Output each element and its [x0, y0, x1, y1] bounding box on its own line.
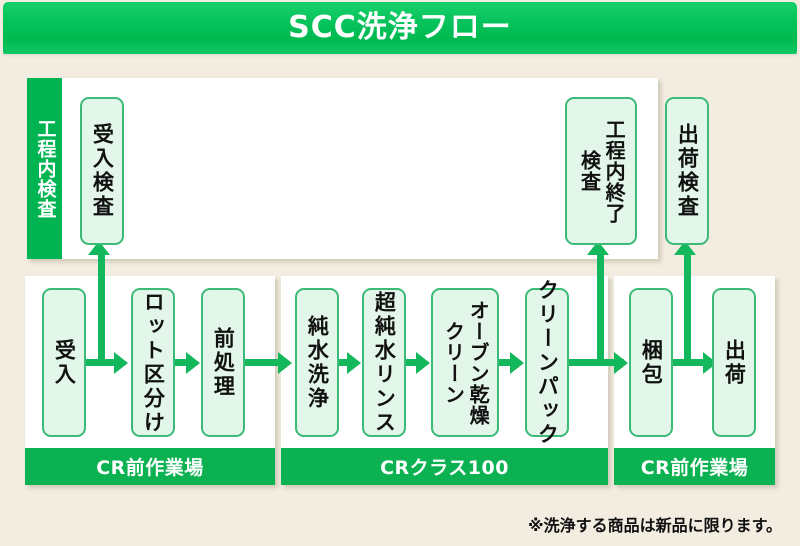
process-box-receiving-label: 受入: [52, 339, 77, 387]
arrowhead-lot-sorting: [114, 352, 128, 374]
inspection-box-final-label-left: 工程内終了: [602, 119, 626, 224]
footnote: ※洗浄する商品は新品に限ります。: [0, 512, 782, 536]
group-footer-1: CR前作業場: [25, 448, 275, 485]
group-footer-2: CRクラス100: [281, 448, 608, 485]
arrowhead-pretreatment: [186, 352, 200, 374]
arrowhead-ultrapure-rinse: [347, 352, 361, 374]
arrowhead-packaging: [614, 352, 628, 374]
inspection-box-final-columns: 工程内終了 検査: [577, 99, 625, 243]
inspection-box-shipping: 出荷検査: [665, 97, 709, 245]
arrowhead-pure-water-wash: [278, 352, 292, 374]
inspection-band: 工程内検査: [27, 78, 62, 259]
process-box-clean-oven-dry-columns: オーブン乾燥 クリーン: [441, 290, 489, 435]
inspection-box-receiving-label: 受入検査: [90, 123, 115, 219]
page-title: SCC洗浄フロー: [288, 13, 512, 43]
connector-branch-to-receiving-inspection: [98, 252, 105, 362]
inspection-box-final: 工程内終了 検査: [565, 97, 637, 245]
inspection-box-shipping-label: 出荷検査: [675, 123, 700, 219]
connector-branch-to-shipping-inspection: [684, 252, 691, 362]
group-footer-3-label: CR前作業場: [641, 453, 749, 480]
connector-branch-to-final-inspection: [597, 252, 604, 362]
inspection-box-receiving: 受入検査: [80, 97, 124, 245]
process-box-clean-pack-label: クリーンパック: [535, 279, 560, 447]
process-box-packaging-label: 梱包: [639, 339, 664, 387]
connector-pretreatment-to-pure-water: [245, 359, 280, 366]
process-box-clean-oven-dry: オーブン乾燥 クリーン: [431, 288, 499, 437]
flow-diagram-canvas: SCC洗浄フロー 工程内検査 受入検査 工程内終了 検査 出荷検査 受入 ロット…: [0, 0, 800, 546]
process-box-clean-oven-dry-label-left: オーブン乾燥: [466, 300, 490, 426]
process-box-pure-water-wash: 純水洗浄: [295, 288, 339, 437]
process-box-ultrapure-rinse-label: 超純水リンス: [372, 291, 397, 435]
process-box-packaging: 梱包: [629, 288, 673, 437]
process-box-pure-water-wash-label: 純水洗浄: [305, 315, 330, 411]
arrowhead-clean-pack: [510, 352, 524, 374]
group-footer-1-label: CR前作業場: [96, 453, 204, 480]
process-box-shipping: 出荷: [712, 288, 756, 437]
process-box-lot-sorting-label: ロット区分け: [141, 291, 166, 435]
arrowhead-clean-oven-dry: [416, 352, 430, 374]
group-footer-3: CR前作業場: [614, 448, 775, 485]
inspection-box-final-label-right: 検査: [577, 150, 601, 192]
process-box-pretreatment-label: 前処理: [211, 327, 236, 399]
process-box-pretreatment: 前処理: [201, 288, 245, 437]
inspection-band-label: 工程内検査: [35, 119, 55, 219]
process-box-receiving: 受入: [42, 288, 86, 437]
process-box-clean-pack: クリーンパック: [525, 288, 569, 437]
process-box-lot-sorting: ロット区分け: [131, 288, 175, 437]
title-banner: SCC洗浄フロー: [3, 2, 797, 54]
process-box-ultrapure-rinse: 超純水リンス: [362, 288, 406, 437]
process-box-shipping-label: 出荷: [722, 339, 747, 387]
process-box-clean-oven-dry-label-right: クリーン: [441, 321, 465, 405]
group-footer-2-label: CRクラス100: [380, 453, 509, 480]
